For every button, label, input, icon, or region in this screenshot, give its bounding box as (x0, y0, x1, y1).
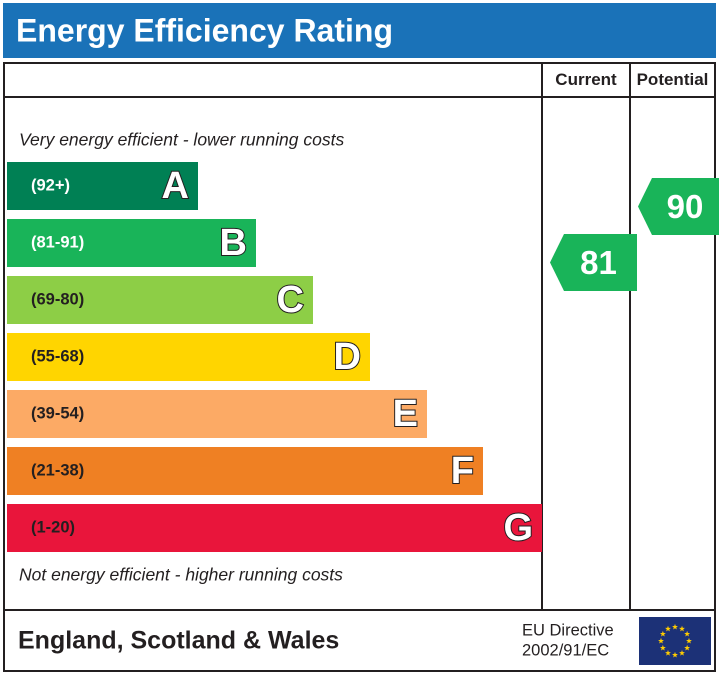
current-rating-marker: 81 (550, 234, 637, 291)
band-range-f: (21-38) (31, 462, 84, 481)
rating-table: Current Potential Very energy efficient … (3, 62, 716, 611)
directive-line-2: 2002/91/EC (522, 641, 614, 662)
band-letter-e: E (393, 395, 418, 433)
footer-directive-label: EU Directive 2002/91/EC (522, 620, 614, 661)
footer-bar: England, Scotland & Wales EU Directive 2… (3, 611, 716, 672)
caption-very-efficient: Very energy efficient - lower running co… (19, 130, 344, 151)
footer-region-label: England, Scotland & Wales (18, 626, 339, 655)
potential-rating-marker: 90 (638, 178, 719, 235)
band-range-c: (69-80) (31, 291, 84, 310)
band-letter-a: A (162, 167, 189, 205)
band-letter-g: G (503, 509, 533, 547)
band-letter-d: D (334, 338, 361, 376)
band-range-d: (55-68) (31, 348, 84, 367)
band-letter-f: F (451, 452, 474, 490)
band-range-g: (1-20) (31, 519, 75, 538)
caption-not-efficient: Not energy efficient - higher running co… (19, 565, 343, 586)
band-row-f: (21-38) F (7, 447, 483, 495)
band-row-d: (55-68) D (7, 333, 370, 381)
band-row-c: (69-80) C (7, 276, 313, 324)
band-row-e: (39-54) E (7, 390, 427, 438)
energy-efficiency-rating-chart: Energy Efficiency Rating Current Potenti… (0, 0, 719, 675)
column-header-potential: Potential (629, 64, 714, 96)
directive-line-1: EU Directive (522, 620, 614, 641)
band-range-a: (92+) (31, 177, 70, 196)
title-bar: Energy Efficiency Rating (3, 3, 716, 58)
band-row-g: (1-20) G (7, 504, 542, 552)
band-range-b: (81-91) (31, 234, 84, 253)
column-header-current: Current (541, 64, 629, 96)
band-letter-b: B (220, 224, 247, 262)
band-letter-c: C (277, 281, 304, 319)
page-title: Energy Efficiency Rating (16, 12, 393, 49)
eu-flag-icon (639, 617, 711, 665)
band-row-a: (92+) A (7, 162, 198, 210)
band-range-e: (39-54) (31, 405, 84, 424)
band-row-b: (81-91) B (7, 219, 256, 267)
column-header-row: Current Potential (5, 64, 714, 98)
bands-area: Very energy efficient - lower running co… (5, 98, 541, 609)
column-divider-potential (629, 98, 631, 609)
